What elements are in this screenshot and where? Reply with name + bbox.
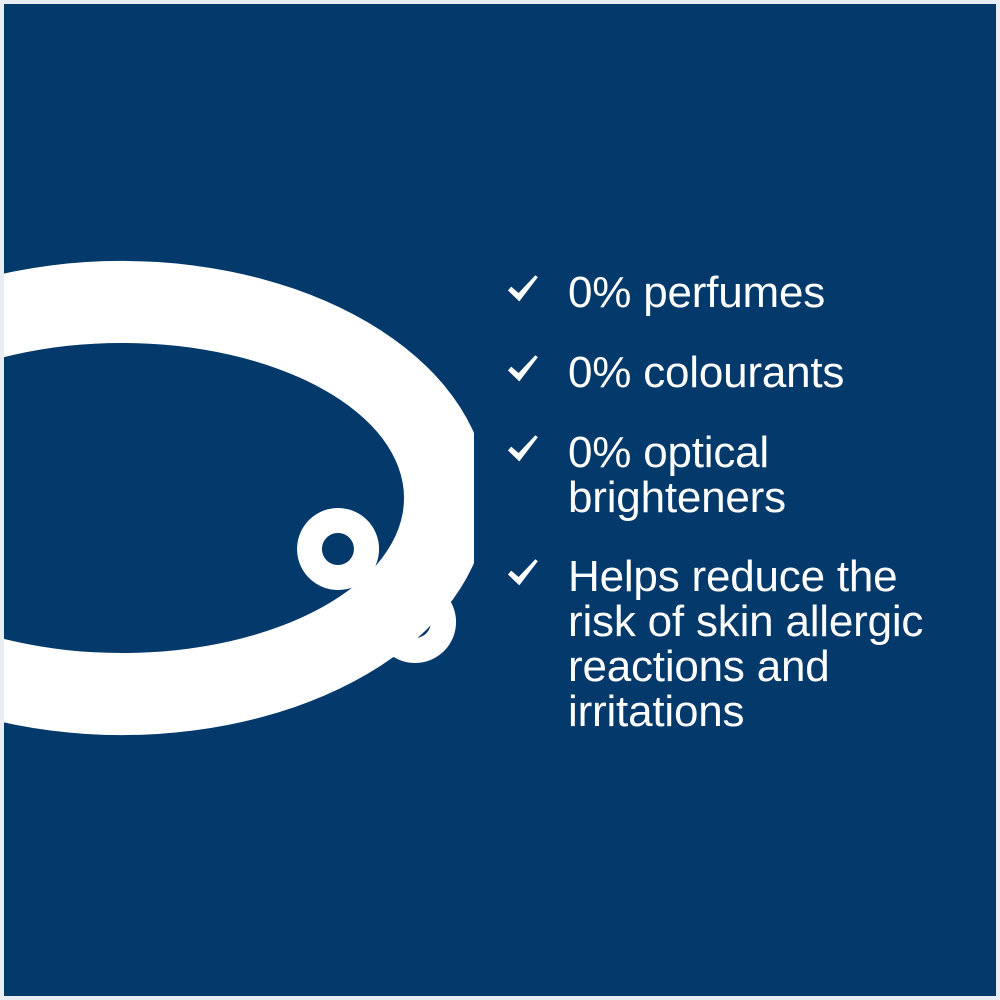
zero-percent-graphic xyxy=(4,4,474,996)
claims-list: 0% perfumes 0% colourants 0% optical bri… xyxy=(506,270,956,734)
claim-item-skin-allergic-reactions: Helps reduce the risk of skin allergic r… xyxy=(506,554,956,734)
zero-percent-claims-panel: 0% perfumes 0% colourants 0% optical bri… xyxy=(0,0,1000,1000)
claim-item-optical-brighteners: 0% optical brighteners xyxy=(506,430,956,520)
check-icon xyxy=(506,272,546,318)
check-icon xyxy=(506,352,546,398)
navy-background-panel: 0% perfumes 0% colourants 0% optical bri… xyxy=(4,4,996,996)
percent-sign-shape xyxy=(297,507,459,663)
claim-text: 0% colourants xyxy=(568,350,956,396)
claim-text: Helps reduce the risk of skin allergic r… xyxy=(568,554,956,734)
claim-item-perfumes: 0% perfumes xyxy=(506,270,956,316)
claim-text: 0% perfumes xyxy=(568,270,956,316)
claim-item-colourants: 0% colourants xyxy=(506,350,956,396)
check-icon xyxy=(506,556,546,602)
claim-text: 0% optical brighteners xyxy=(568,430,956,520)
check-icon xyxy=(506,432,546,478)
zero-ring-shape xyxy=(4,261,474,735)
